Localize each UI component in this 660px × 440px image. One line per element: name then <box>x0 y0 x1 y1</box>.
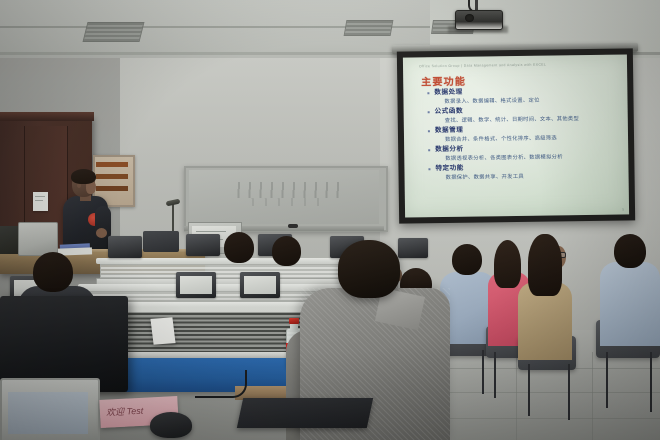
chair-leg <box>528 364 530 416</box>
slide-section: 数据分析 数据透视表分析、各类图表分析、数据模拟分析 <box>428 143 620 164</box>
floor-tile-line <box>516 352 517 440</box>
attendee-head <box>33 252 73 292</box>
floor-tile-line <box>592 352 593 440</box>
slide-section: 数据处理 数据录入、数据编辑、格式设置、定位 <box>427 86 619 107</box>
monitor-text-line <box>196 231 226 232</box>
chair-leg <box>494 352 496 398</box>
presenter-hair <box>71 169 96 184</box>
monitor-cable <box>195 370 247 398</box>
desktop-tower <box>18 222 58 256</box>
presenter-hand <box>96 228 107 238</box>
lab-monitor-screen <box>180 276 212 294</box>
attendee-head <box>614 234 646 268</box>
whiteboard-marker <box>288 224 298 228</box>
slide-section: 数据管理 数据合并、条件格式、个性化排序、高级筛选 <box>428 124 620 145</box>
lab-monitor <box>186 234 220 256</box>
slide-section: 特定功能 数据保护、数据共享、开发工具 <box>428 162 620 183</box>
projection-screen: Office Solution Group | Data Management … <box>403 54 629 217</box>
keyboard <box>237 398 373 428</box>
ceiling-projector <box>455 10 503 30</box>
paper-notice-line <box>35 200 43 201</box>
lab-monitor <box>398 238 428 258</box>
chair-leg <box>482 350 484 394</box>
attendee-torso <box>600 262 660 346</box>
chair-leg <box>606 352 608 408</box>
wall-panel-stripe <box>96 174 128 179</box>
ceiling-vent <box>344 20 394 36</box>
attendee-head <box>452 244 482 275</box>
floor-tile-line <box>430 418 660 419</box>
bottle-cap <box>289 318 299 324</box>
projector-lens <box>465 14 474 22</box>
attendee-hair <box>528 234 562 296</box>
chair-leg <box>650 352 652 412</box>
whiteboard-writing <box>235 182 345 198</box>
classroom-photo: Office Solution Group | Data Management … <box>0 0 660 440</box>
student-head <box>272 236 301 266</box>
slide-body: 数据处理 数据录入、数据编辑、格式设置、定位 公式函数 查找、逻辑、数学、统计、… <box>427 86 620 184</box>
floor-tile-line <box>430 392 660 393</box>
instructor-laptop <box>143 231 179 252</box>
ceiling-vent <box>83 22 145 42</box>
chair-leg <box>568 364 570 420</box>
cabinet-top <box>0 112 94 121</box>
slide-page-number: 5 <box>622 207 624 211</box>
lab-monitor <box>108 236 142 258</box>
mouse <box>150 412 192 438</box>
grey-suit-head <box>338 240 400 298</box>
attendee-hair <box>494 240 521 288</box>
paper-notice-line <box>35 196 45 197</box>
foreground-monitor-screen <box>8 392 88 434</box>
paper-notice <box>33 192 48 211</box>
wall-panel-stripe <box>96 162 128 167</box>
slide-section: 公式函数 查找、逻辑、数学、统计、日期时间、文本、其他类型 <box>428 105 620 126</box>
wall-panel-stripe <box>96 186 128 191</box>
student-head <box>224 232 254 263</box>
paper-sheet <box>150 317 175 344</box>
lab-monitor-screen <box>244 276 276 294</box>
whiteboard-writing <box>248 198 328 206</box>
slide-title: 主要功能 <box>421 73 466 89</box>
